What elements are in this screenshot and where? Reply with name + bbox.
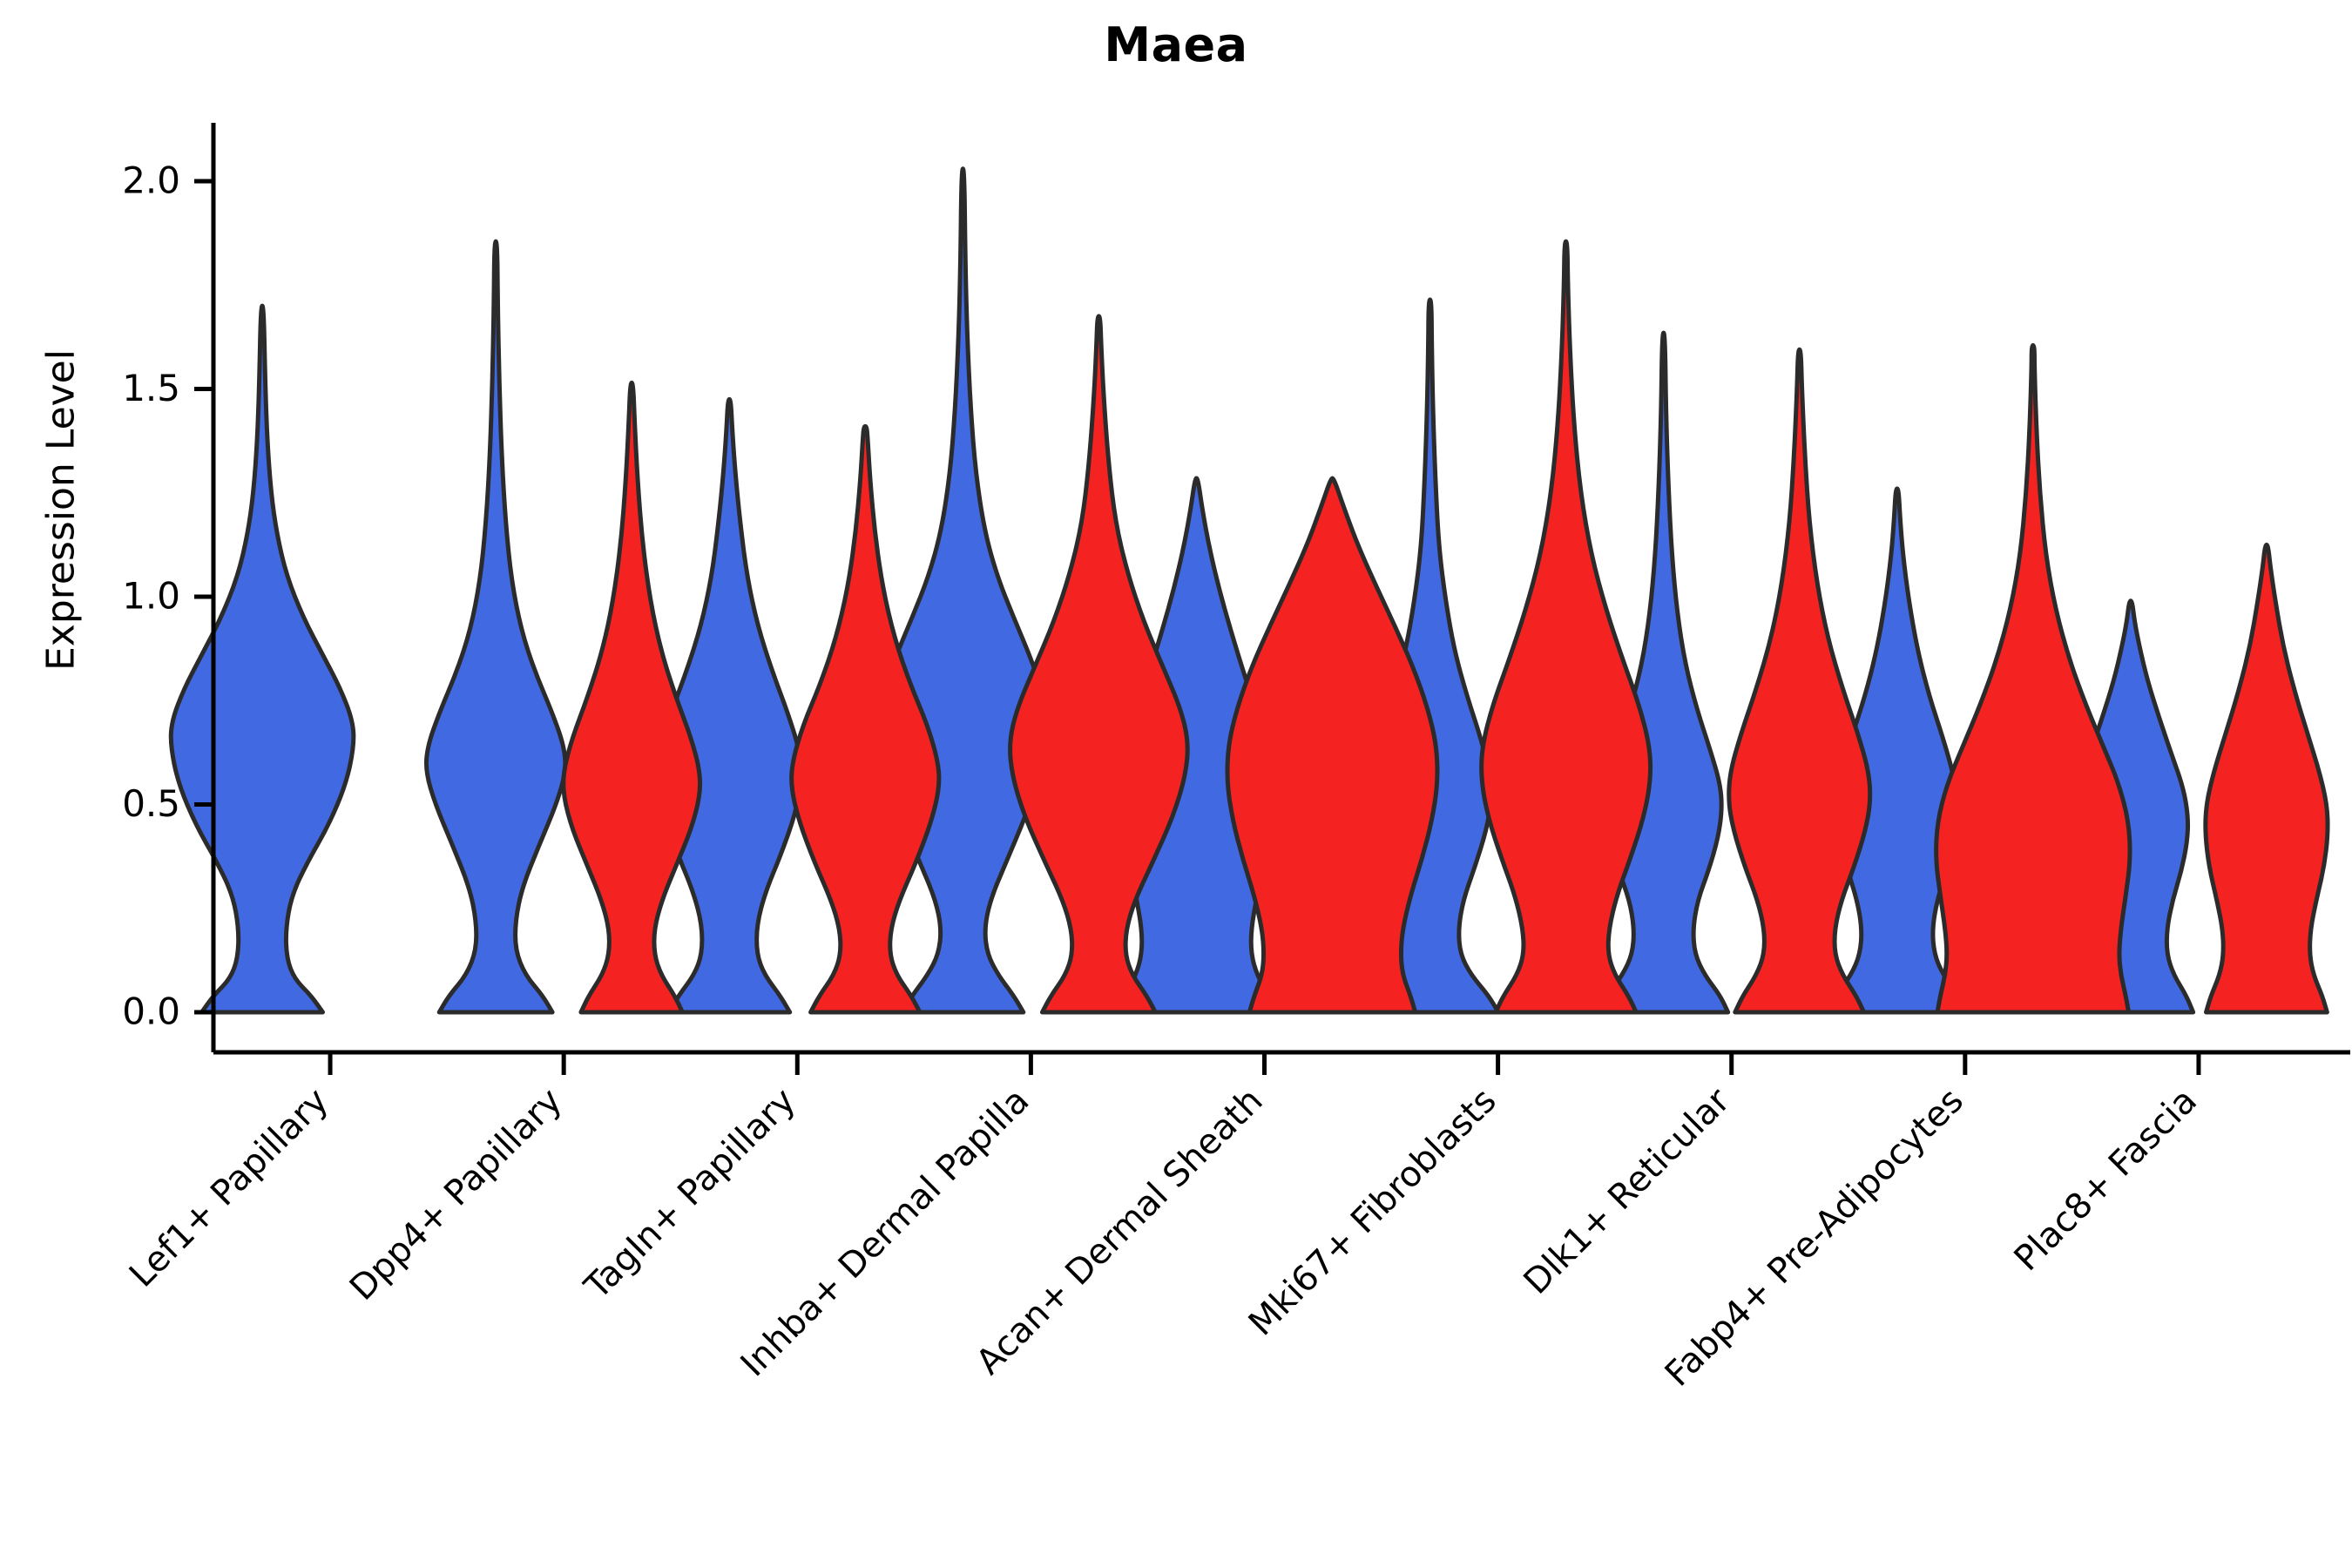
- violin-plot-figure: Maea Expression Level 0.00.51.01.52.0 Le…: [0, 0, 2352, 1568]
- x-tick-labels: Lef1+ PapillaryDpp4+ PapillaryTagIn+ Pap…: [122, 1080, 2205, 1395]
- violin-red-2: [792, 426, 939, 1012]
- x-tick-label-2: TagIn+ Papillary: [577, 1081, 803, 1308]
- x-tick-label-0: Lef1+ Papillary: [122, 1081, 336, 1295]
- y-tick-label: 1.5: [122, 367, 180, 409]
- x-tick-label-6: Dlk1+ Reticular: [1517, 1080, 1739, 1302]
- plot-canvas: 0.00.51.01.52.0 Lef1+ PapillaryDpp4+ Pap…: [0, 0, 2352, 1568]
- y-tick-label: 1.0: [122, 575, 180, 618]
- violin-red-5: [1482, 241, 1651, 1012]
- violin-blue-0: [171, 306, 354, 1012]
- violin-blue-1: [426, 241, 564, 1012]
- y-tick-label: 2.0: [122, 159, 180, 202]
- violin-red-6: [1729, 349, 1870, 1012]
- violin-red-7: [1936, 345, 2130, 1012]
- y-tick-label: 0.0: [122, 990, 180, 1033]
- y-tick-labels: 0.00.51.01.52.0: [122, 159, 180, 1033]
- x-tick-label-1: Dpp4+ Papillary: [342, 1081, 570, 1308]
- violin-red-8: [2206, 544, 2328, 1012]
- x-tick-label-5: Mki67+ Fibroblasts: [1241, 1081, 1504, 1344]
- x-tick-label-8: Plac8+ Fascia: [2007, 1081, 2206, 1280]
- y-tick-label: 0.5: [122, 782, 180, 825]
- violins-layer: [171, 169, 2328, 1012]
